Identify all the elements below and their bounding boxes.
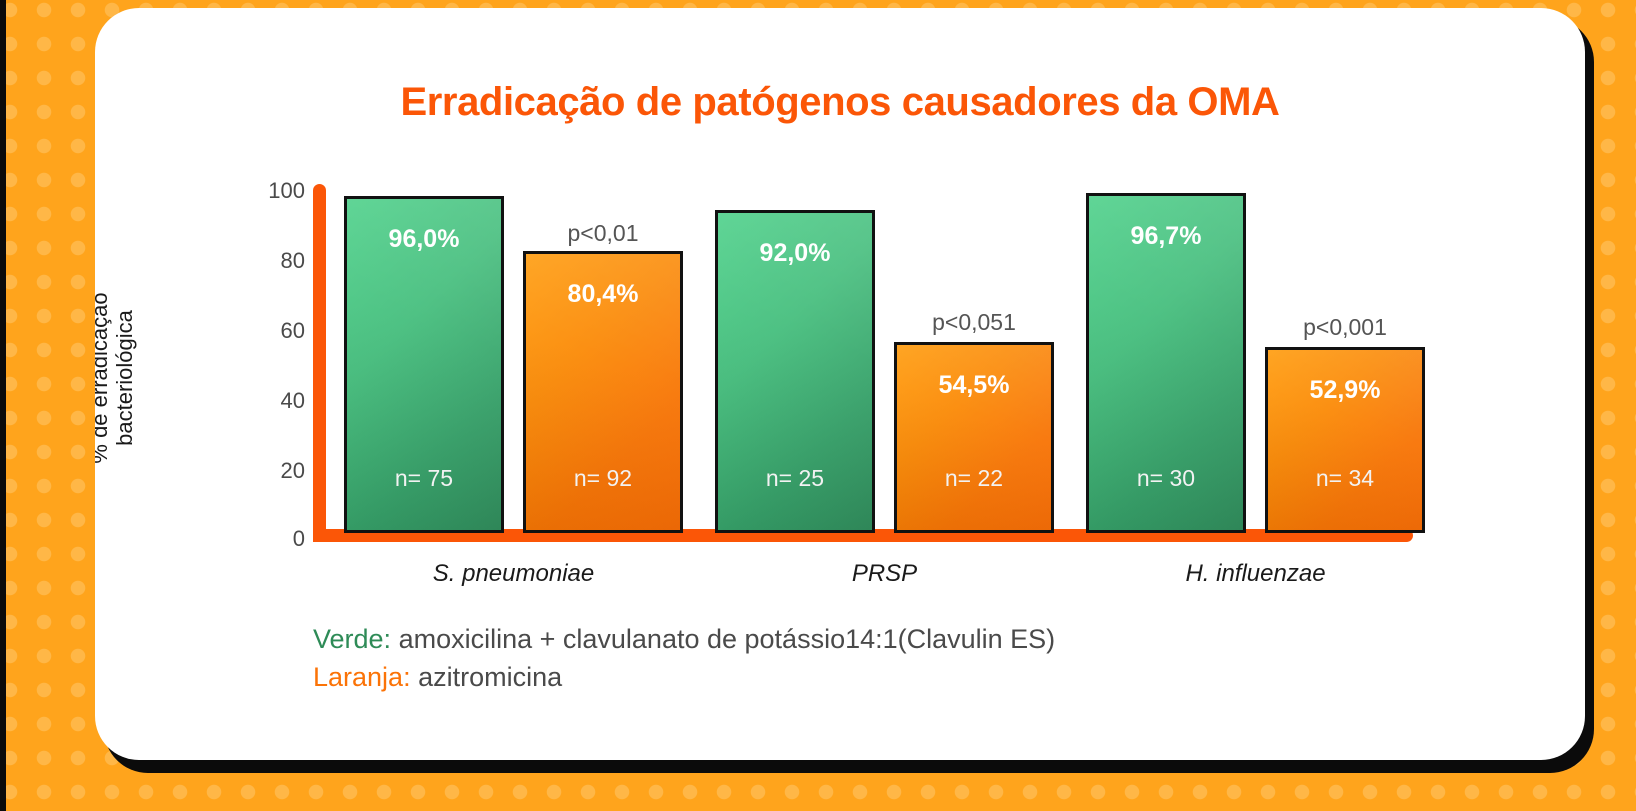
y-tick-20: 20 (245, 458, 305, 484)
bar-value-label: 52,9% (1268, 376, 1422, 405)
bar-orange-prsp[interactable]: 54,5% n= 22 (894, 342, 1054, 533)
y-axis-label: % de erradicação bacteriológica (95, 218, 138, 538)
slide-card: Erradicação de patógenos causadores da O… (95, 8, 1585, 760)
y-tick-80: 80 (245, 248, 305, 274)
bar-value-label: 96,7% (1089, 222, 1243, 251)
bar-n-label: n= 75 (347, 465, 501, 492)
bar-green-prsp[interactable]: 92,0% n= 25 (715, 210, 875, 533)
y-tick-60: 60 (245, 318, 305, 344)
y-tick-40: 40 (245, 388, 305, 414)
legend: Verde: amoxicilina + clavulanato de potá… (313, 620, 1055, 697)
category-label-prsp: PRSP (715, 560, 1054, 588)
bar-orange-s-pneumoniae[interactable]: 80,4% n= 92 (523, 251, 683, 533)
legend-orange-text: azitromicina (411, 662, 563, 692)
legend-orange-key: Laranja: (313, 662, 411, 692)
bar-value-label: 92,0% (718, 239, 872, 268)
bar-n-label: n= 34 (1268, 465, 1422, 492)
bar-value-label: 80,4% (526, 280, 680, 309)
bar-n-label: n= 30 (1089, 465, 1243, 492)
bar-n-label: n= 25 (718, 465, 872, 492)
p-value-annotation-2: p<0,051 (884, 309, 1064, 336)
legend-line-orange: Laranja: azitromicina (313, 658, 1055, 696)
y-axis-line (313, 184, 326, 536)
legend-green-key: Verde: (313, 624, 391, 654)
bar-green-s-pneumoniae[interactable]: 96,0% n= 75 (344, 196, 504, 533)
y-axis-ticks: 100 80 60 40 20 0 (245, 8, 305, 760)
category-label-s-pneumoniae: S. pneumoniae (344, 560, 683, 588)
bar-n-label: n= 22 (897, 465, 1051, 492)
bar-orange-h-influenzae[interactable]: 52,9% n= 34 (1265, 347, 1425, 533)
y-tick-0: 0 (245, 526, 305, 552)
bar-green-h-influenzae[interactable]: 96,7% n= 30 (1086, 193, 1246, 533)
bar-n-label: n= 92 (526, 465, 680, 492)
p-value-annotation-1: p<0,01 (523, 220, 683, 247)
left-edge-strip (0, 0, 6, 811)
legend-line-green: Verde: amoxicilina + clavulanato de potá… (313, 620, 1055, 658)
y-tick-100: 100 (245, 178, 305, 204)
bar-value-label: 96,0% (347, 225, 501, 254)
legend-green-text: amoxicilina + clavulanato de potássio14:… (391, 624, 1055, 654)
category-label-h-influenzae: H. influenzae (1086, 560, 1425, 588)
bar-value-label: 54,5% (897, 371, 1051, 400)
p-value-annotation-3: p<0,001 (1255, 314, 1435, 341)
